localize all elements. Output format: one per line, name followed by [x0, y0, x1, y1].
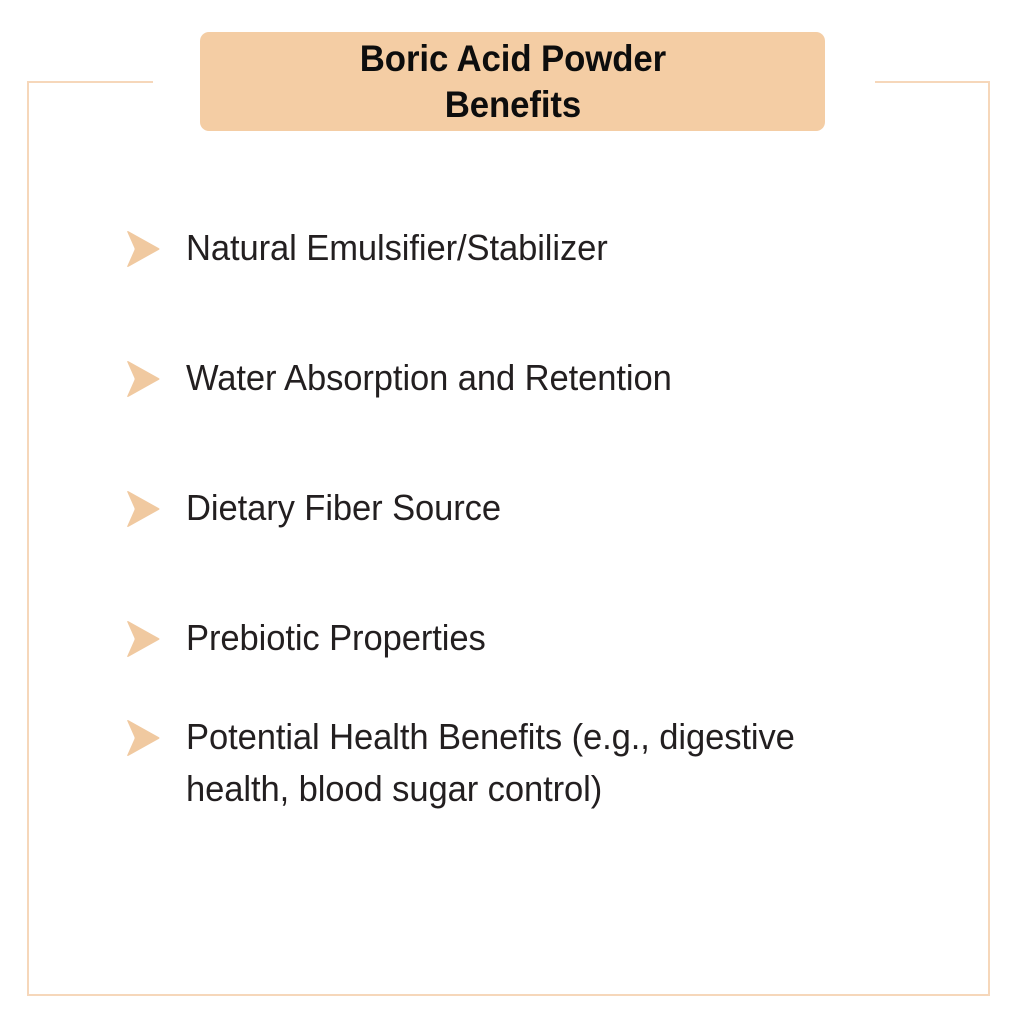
list-item-label: Prebiotic Properties	[186, 612, 486, 663]
frame-border-top-left	[27, 81, 153, 83]
infographic-poster: Boric Acid Powder Benefits Natural Emuls…	[0, 0, 1024, 1024]
frame-border-right	[988, 81, 990, 996]
arrow-right-icon	[126, 359, 160, 399]
list-item: Prebiotic Properties	[126, 612, 936, 663]
arrow-right-icon	[126, 718, 160, 758]
list-item-label: Dietary Fiber Source	[186, 482, 501, 533]
frame-border-bottom	[27, 994, 990, 996]
arrow-right-icon	[126, 489, 160, 529]
list-item-label: Natural Emulsifier/Stabilizer	[186, 222, 608, 273]
frame-border-left	[27, 81, 29, 996]
page-title-line-1: Boric Acid Powder	[359, 38, 665, 79]
page-title-line-2: Benefits	[444, 84, 580, 125]
page-title: Boric Acid Powder Benefits	[359, 36, 665, 126]
arrow-right-icon	[126, 229, 160, 269]
list-item-label: Water Absorption and Retention	[186, 352, 672, 403]
benefits-list: Natural Emulsifier/Stabilizer Water Abso…	[126, 222, 936, 814]
list-item: Natural Emulsifier/Stabilizer	[126, 222, 936, 273]
list-item-label: Potential Health Benefits (e.g., digesti…	[186, 711, 906, 813]
list-item: Dietary Fiber Source	[126, 482, 936, 533]
arrow-right-icon	[126, 619, 160, 659]
list-item: Water Absorption and Retention	[126, 352, 936, 403]
title-banner: Boric Acid Powder Benefits	[200, 32, 825, 131]
list-item: Potential Health Benefits (e.g., digesti…	[126, 711, 936, 813]
frame-border-top-right	[875, 81, 990, 83]
